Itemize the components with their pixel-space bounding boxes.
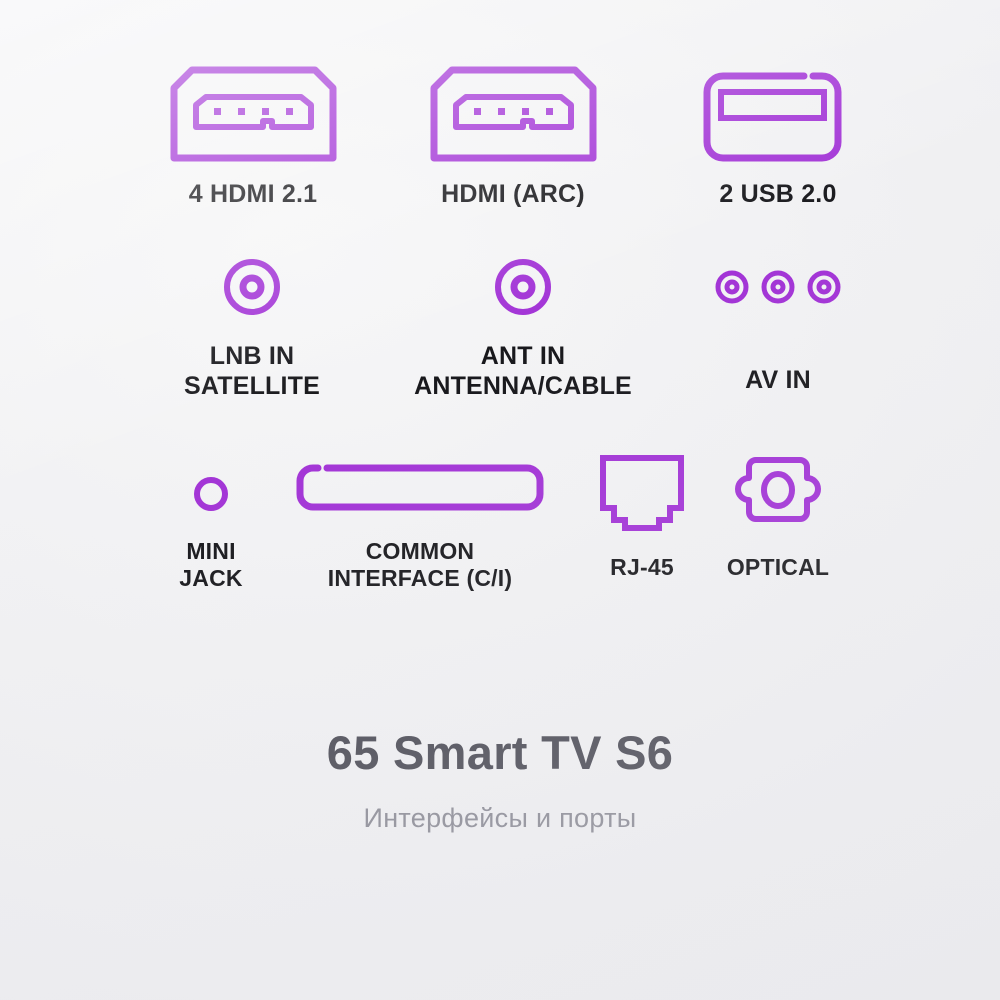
port-item-usb-2-0: 2 USB 2.0 <box>658 64 898 210</box>
port-label: OPTICAL <box>727 554 829 581</box>
title-block: 65 Smart TV S6 Интерфейсы и порты <box>0 728 1000 834</box>
port-label: 4 HDMI 2.1 <box>189 180 317 210</box>
port-item-av-in: AV IN <box>658 252 898 396</box>
port-label: MINI JACK <box>179 538 242 592</box>
page-title: 65 Smart TV S6 <box>0 728 1000 777</box>
port-item-rj45: RJ-45 <box>576 452 708 581</box>
port-item-common-interface: COMMON INTERFACE (C/I) <box>300 452 540 592</box>
port-label: 2 USB 2.0 <box>719 180 836 210</box>
optical-toslink-icon <box>728 452 828 532</box>
port-item-hdmi-2-1: 4 HDMI 2.1 <box>133 64 373 210</box>
rj45-ethernet-icon <box>592 452 692 532</box>
port-label: RJ-45 <box>610 554 674 581</box>
port-item-mini-jack: MINI JACK <box>131 452 291 592</box>
port-item-optical: OPTICAL <box>712 452 844 581</box>
port-label: LNB IN SATELLITE <box>184 342 320 401</box>
port-item-hdmi-arc: HDMI (ARC) <box>393 64 633 210</box>
port-label: AV IN <box>745 366 811 396</box>
mini-jack-icon <box>181 452 241 522</box>
hdmi-arc-port-icon <box>426 64 601 164</box>
coaxial-connector-icon <box>483 252 563 322</box>
port-item-ant-in-antenna-cable: ANT IN ANTENNA/CABLE <box>403 252 643 401</box>
page-subtitle: Интерфейсы и порты <box>0 803 1000 834</box>
port-spec-sheet: 4 HDMI 2.1 HDMI (ARC) <box>0 0 1000 1000</box>
port-label: COMMON INTERFACE (C/I) <box>328 538 512 592</box>
usb-port-icon <box>691 64 866 164</box>
port-label: ANT IN ANTENNA/CABLE <box>414 342 632 401</box>
common-interface-slot-icon <box>296 452 544 522</box>
port-label: HDMI (ARC) <box>441 180 585 210</box>
port-item-lnb-in-satellite: LNB IN SATELLITE <box>132 252 372 401</box>
hdmi-port-icon <box>166 64 341 164</box>
av-rca-triple-icon <box>709 252 847 322</box>
coaxial-connector-icon <box>212 252 292 322</box>
